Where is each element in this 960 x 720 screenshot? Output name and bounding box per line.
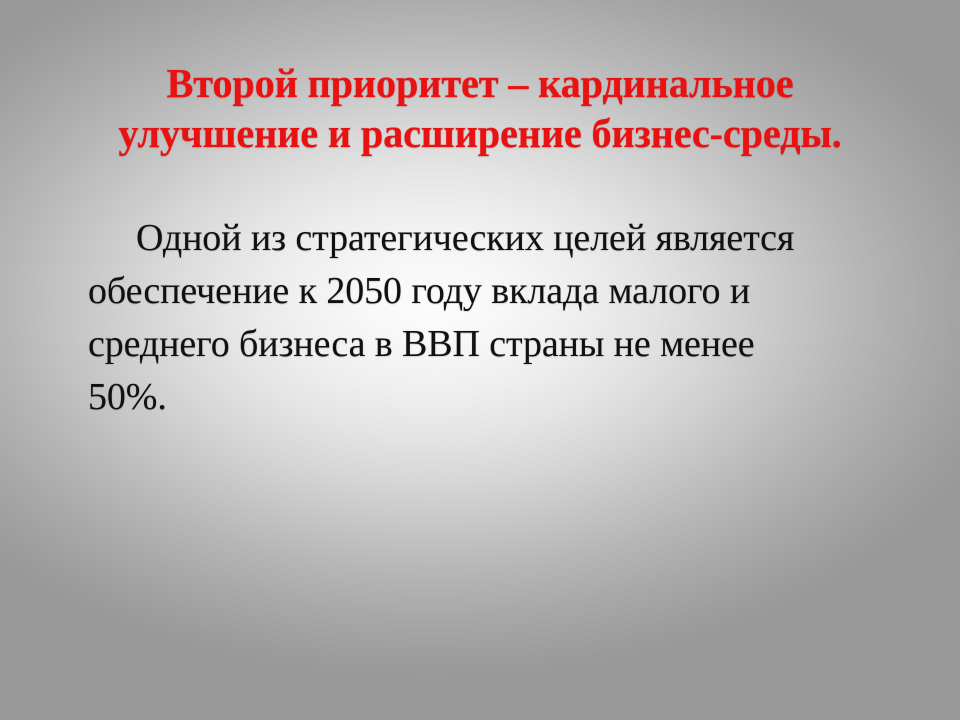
title-line-1: Второй приоритет – кардинальное: [7, 58, 953, 108]
body-line-2: обеспечение к 2050 году вклада малого и: [88, 265, 898, 318]
body-line-3: среднего бизнеса в ВВП страны не менее: [88, 318, 898, 371]
body-line-1: Одной из стратегических целей является: [88, 212, 898, 265]
presentation-slide: Второй приоритет – кардинальное улучшени…: [0, 0, 960, 720]
body-line-4: 50%.: [88, 371, 898, 424]
slide-title: Второй приоритет – кардинальное улучшени…: [0, 58, 960, 158]
slide-body-text: Одной из стратегических целей является о…: [88, 212, 898, 424]
title-line-2: улучшение и расширение бизнес-среды.: [7, 108, 953, 158]
